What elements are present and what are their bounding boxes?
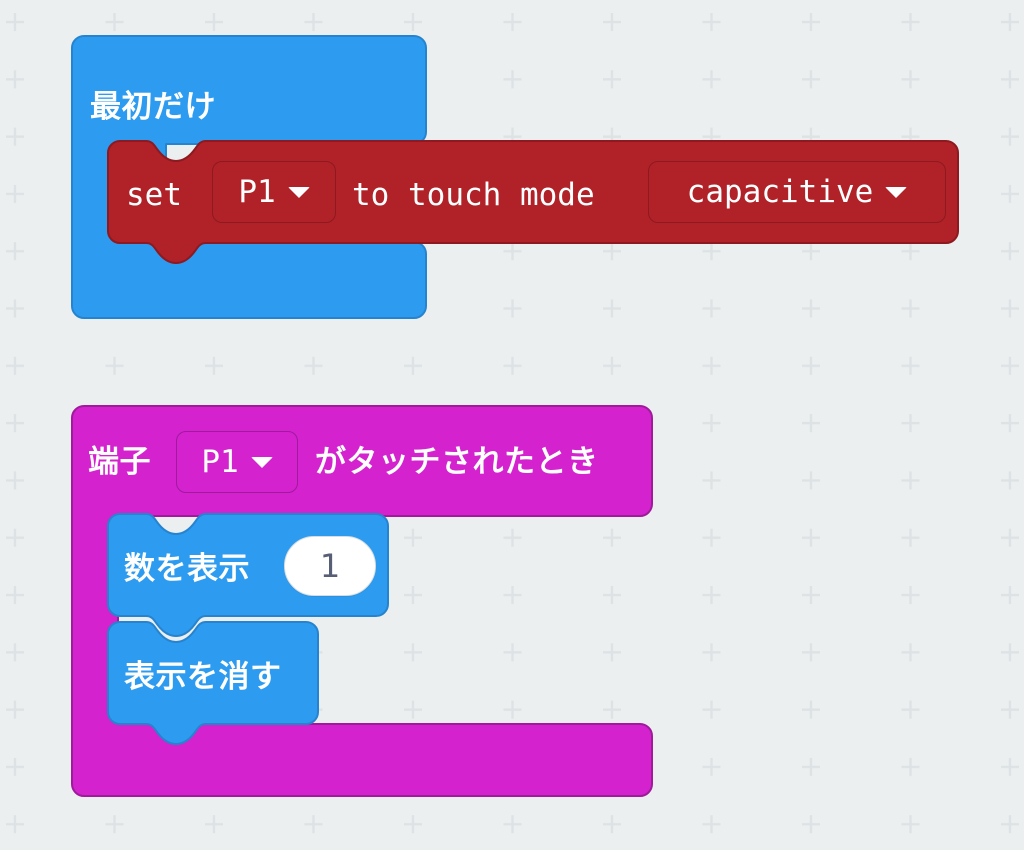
pin-select-value: P1	[238, 177, 275, 208]
chevron-down-icon	[251, 457, 273, 468]
number-input[interactable]: 1	[284, 536, 376, 596]
touch-mode-select-value: capacitive	[687, 177, 874, 208]
clear-screen-block[interactable]: 表示を消す	[106, 620, 322, 746]
chevron-down-icon	[288, 187, 310, 198]
touch-mode-select-dropdown[interactable]: capacitive	[648, 161, 946, 223]
chevron-down-icon	[885, 187, 907, 198]
blocks-workspace[interactable]: 最初だけ set P1 to touch mode capacitive 端子 …	[0, 0, 1024, 850]
pin-select-dropdown[interactable]: P1	[176, 431, 298, 493]
pin-select-value: P1	[201, 447, 238, 478]
pin-select-dropdown[interactable]: P1	[212, 161, 336, 223]
number-input-value: 1	[320, 550, 340, 582]
set-pin-touch-mode-block[interactable]: set P1 to touch mode capacitive	[106, 139, 962, 265]
